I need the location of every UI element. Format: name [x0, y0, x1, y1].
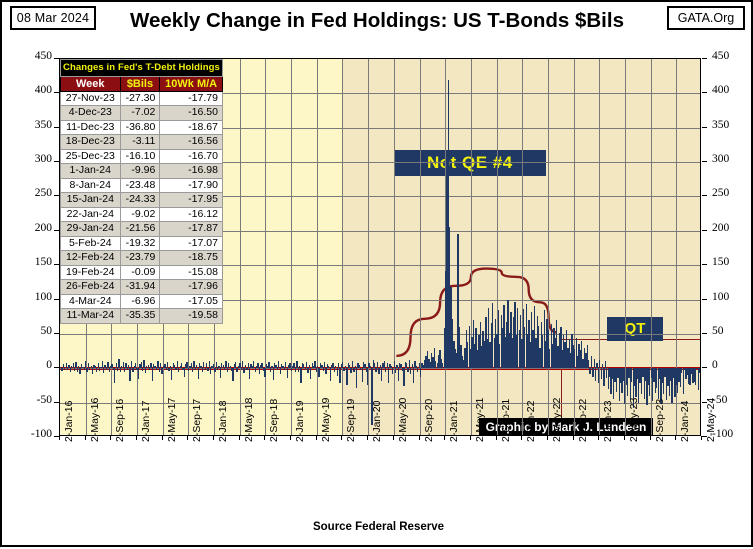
- x-axis-tick-label: 2-Sep-19: [345, 399, 357, 442]
- x-axis-tick-label: 2-May-20: [397, 398, 409, 442]
- cell-week: 27-Nov-23: [61, 91, 121, 106]
- bar: [314, 361, 315, 368]
- gridline-vertical: [548, 59, 549, 435]
- cell-week: 5-Feb-24: [61, 236, 121, 251]
- bar: [310, 368, 311, 379]
- bar: [192, 368, 193, 371]
- x-axis-tick: [496, 436, 497, 440]
- cell-ma: -17.79: [160, 91, 223, 106]
- x-axis-tick: [110, 436, 111, 440]
- bar: [375, 368, 376, 372]
- x-axis-tick-label: 2-May-19: [320, 398, 332, 442]
- y-axis-tick-right: [702, 367, 707, 368]
- bar: [388, 368, 389, 383]
- bar: [413, 368, 414, 382]
- bar: [184, 368, 185, 377]
- bar: [598, 368, 599, 383]
- y-axis-tick-left: [54, 333, 59, 334]
- bar: [385, 368, 386, 371]
- bar: [410, 368, 411, 373]
- x-axis-tick-label: 2-May-23: [628, 398, 640, 442]
- bar: [343, 368, 344, 371]
- bar: [85, 361, 86, 368]
- fed-holdings-table: Changes in Fed's T-Debt Holdings Week$Bi…: [60, 59, 223, 324]
- bar: [403, 368, 404, 386]
- cell-ma: -17.95: [160, 193, 223, 208]
- y-axis-tick-label-right: 0: [712, 359, 753, 371]
- y-axis-tick-label-left: 150: [2, 256, 52, 268]
- chart-frame: 08 Mar 2024 Weekly Change in Fed Holding…: [0, 0, 753, 547]
- bar: [109, 368, 110, 371]
- bar: [589, 368, 590, 373]
- bar: [106, 368, 107, 370]
- x-axis-tick: [393, 436, 394, 440]
- y-axis-tick-label-left: 100: [2, 291, 52, 303]
- y-axis-tick-left: [54, 92, 59, 93]
- y-axis-tick-label-left: 350: [2, 119, 52, 131]
- y-axis-tick-right: [702, 299, 707, 300]
- bar: [307, 368, 308, 373]
- gridline-horizontal: [60, 334, 700, 335]
- cell-bils: -23.79: [120, 251, 160, 266]
- cell-bils: -27.30: [120, 91, 160, 106]
- y-axis-tick-label-right: 200: [712, 222, 753, 234]
- bar: [142, 368, 143, 371]
- x-axis-tick: [573, 436, 574, 440]
- cell-bils: -19.32: [120, 236, 160, 251]
- x-axis-tick-label: 2-May-24: [705, 398, 717, 442]
- x-axis-tick: [239, 436, 240, 440]
- bar: [114, 368, 115, 383]
- x-axis-tick-label: 2-May-16: [89, 398, 101, 442]
- y-axis-tick-label-right: -50: [712, 394, 753, 406]
- x-axis-tick: [290, 436, 291, 440]
- bar: [99, 368, 100, 371]
- bar: [339, 368, 340, 383]
- x-axis-tick: [598, 436, 599, 440]
- y-axis-tick-left: [54, 195, 59, 196]
- y-axis-tick-label-left: 250: [2, 187, 52, 199]
- bar: [367, 368, 368, 384]
- table-row: 22-Jan-24-9.02-16.12: [61, 207, 223, 222]
- bar: [417, 368, 418, 372]
- bar: [159, 368, 160, 371]
- x-axis-tick-label: 2-May-17: [166, 398, 178, 442]
- gridline-vertical: [471, 59, 472, 435]
- bar: [334, 368, 335, 371]
- cell-bils: -9.96: [120, 164, 160, 179]
- bar: [601, 368, 602, 379]
- x-axis-tick-label: 2-Jan-24: [679, 401, 691, 442]
- bar: [61, 368, 62, 371]
- table-row: 15-Jan-24-24.33-17.95: [61, 193, 223, 208]
- y-axis-tick-label-right: 250: [712, 187, 753, 199]
- cell-ma: -16.98: [160, 164, 223, 179]
- bar: [168, 368, 169, 371]
- x-axis-tick: [701, 436, 702, 440]
- bar: [177, 361, 178, 369]
- bar: [280, 368, 281, 373]
- bar: [84, 368, 85, 370]
- bar: [246, 368, 247, 369]
- x-axis-tick: [547, 436, 548, 440]
- gridline-vertical: [342, 59, 343, 435]
- y-axis-tick-right: [702, 195, 707, 196]
- bar: [362, 368, 363, 382]
- y-axis-tick-label-right: 450: [712, 50, 753, 62]
- bar: [156, 368, 157, 370]
- gridline-vertical: [497, 59, 498, 435]
- x-axis-tick-label: 2-Jan-21: [448, 401, 460, 442]
- bar: [241, 368, 242, 370]
- bar: [592, 368, 593, 376]
- cell-week: 29-Jan-24: [61, 222, 121, 237]
- y-axis-tick-label-left: 400: [2, 84, 52, 96]
- gridline-vertical: [240, 59, 241, 435]
- y-axis-tick-left: [54, 58, 59, 59]
- bar: [588, 360, 589, 368]
- bar: [305, 368, 306, 370]
- bar: [603, 368, 604, 386]
- cell-ma: -19.58: [160, 309, 223, 324]
- bar: [316, 368, 317, 372]
- table-header-row: Week$Bils10Wk M/A: [61, 76, 223, 91]
- bar: [220, 368, 221, 378]
- bar: [178, 368, 179, 372]
- bar: [166, 368, 167, 369]
- table-row: 25-Dec-23-16.10-16.70: [61, 149, 223, 164]
- y-axis-tick-label-left: 450: [2, 50, 52, 62]
- bar: [384, 361, 385, 368]
- bar: [381, 368, 382, 380]
- x-axis-tick: [316, 436, 317, 440]
- x-axis-tick-label: 2-Jan-23: [602, 401, 614, 442]
- bar: [683, 368, 684, 393]
- y-axis-tick-right: [702, 161, 707, 162]
- x-axis-tick-label: 2-Jan-16: [63, 401, 75, 442]
- bar: [175, 368, 176, 370]
- table-body: 27-Nov-23-27.30-17.794-Dec-23-7.02-16.50…: [61, 91, 223, 323]
- table-row: 26-Feb-24-31.94-17.96: [61, 280, 223, 295]
- cell-bils: -7.02: [120, 106, 160, 121]
- bar: [103, 368, 104, 373]
- x-axis-tick: [444, 436, 445, 440]
- bar: [224, 368, 225, 369]
- x-axis-tick: [264, 436, 265, 440]
- x-axis-tick: [213, 436, 214, 440]
- cell-ma: -17.87: [160, 222, 223, 237]
- bar: [210, 368, 211, 373]
- cell-ma: -17.96: [160, 280, 223, 295]
- bar: [395, 368, 396, 373]
- bar: [242, 361, 243, 369]
- table-row: 5-Feb-24-19.32-17.07: [61, 236, 223, 251]
- y-axis-tick-right: [702, 333, 707, 334]
- bar: [67, 368, 68, 369]
- bar: [205, 368, 206, 369]
- bar: [209, 361, 210, 369]
- gridline-vertical: [317, 59, 318, 435]
- y-axis-tick-left: [54, 367, 59, 368]
- y-axis-tick-label-right: 400: [712, 84, 753, 96]
- table-row: 27-Nov-23-27.30-17.79: [61, 91, 223, 106]
- gridline-vertical: [574, 59, 575, 435]
- x-axis-tick-label: 2-Sep-22: [577, 399, 589, 442]
- x-axis-tick: [419, 436, 420, 440]
- bar: [591, 356, 592, 368]
- bar: [392, 368, 393, 374]
- bar: [171, 368, 172, 380]
- cell-bils: -35.35: [120, 309, 160, 324]
- x-axis-tick: [470, 436, 471, 440]
- bar: [131, 361, 132, 368]
- bar: [353, 368, 354, 372]
- y-axis-tick-label-right: 150: [712, 256, 753, 268]
- cell-week: 15-Jan-24: [61, 193, 121, 208]
- annotation-qt: QT: [607, 317, 663, 341]
- bar: [325, 368, 326, 373]
- bar: [259, 368, 260, 374]
- bar: [117, 368, 118, 371]
- bar: [118, 359, 119, 368]
- y-axis-tick-left: [54, 127, 59, 128]
- table-row: 1-Jan-24-9.96-16.98: [61, 164, 223, 179]
- annotation-not-qe: Not QE #4: [394, 150, 546, 176]
- y-axis-tick-label-left: 0: [2, 359, 52, 371]
- gridline-vertical: [394, 59, 395, 435]
- cell-bils: -9.02: [120, 207, 160, 222]
- bar: [323, 368, 324, 371]
- bar: [605, 361, 606, 368]
- table-row: 18-Dec-23-3.11-16.56: [61, 135, 223, 150]
- cell-bils: -24.33: [120, 193, 160, 208]
- cell-week: 12-Feb-24: [61, 251, 121, 266]
- table-row: 8-Jan-24-23.48-17.90: [61, 178, 223, 193]
- cell-ma: -17.05: [160, 294, 223, 309]
- y-axis-tick-label-left: -100: [2, 428, 52, 440]
- bar: [287, 368, 288, 378]
- x-axis-tick: [624, 436, 625, 440]
- cell-week: 4-Mar-24: [61, 294, 121, 309]
- cell-ma: -18.75: [160, 251, 223, 266]
- bar: [337, 368, 338, 376]
- bar: [695, 368, 696, 384]
- table-row: 19-Feb-24-0.09-15.08: [61, 265, 223, 280]
- x-axis-tick-label: 2-Sep-23: [654, 399, 666, 442]
- cell-week: 18-Dec-23: [61, 135, 121, 150]
- bar: [202, 368, 203, 372]
- bar: [298, 368, 299, 371]
- cell-bils: -23.48: [120, 178, 160, 193]
- bar: [264, 368, 265, 376]
- y-axis-tick-label-right: 350: [712, 119, 753, 131]
- source-label: Source Federal Reserve: [2, 521, 753, 533]
- x-axis-tick: [162, 436, 163, 440]
- x-axis-tick-label: 2-Sep-16: [114, 399, 126, 442]
- x-axis-tick-label: 2-Jan-17: [140, 401, 152, 442]
- bar: [92, 368, 93, 374]
- bar: [409, 360, 410, 368]
- cell-bils: -21.56: [120, 222, 160, 237]
- bar: [227, 368, 228, 372]
- x-axis-tick-label: 2-May-21: [474, 398, 486, 442]
- table-row: 4-Dec-23-7.02-16.50: [61, 106, 223, 121]
- bar: [79, 368, 80, 373]
- bar: [225, 361, 226, 368]
- y-axis-tick-label-left: 200: [2, 222, 52, 234]
- y-axis-tick-right: [702, 230, 707, 231]
- bar: [291, 368, 292, 371]
- y-axis-tick-label-left: 50: [2, 325, 52, 337]
- x-axis-tick-label: 2-Sep-17: [191, 399, 203, 442]
- bar: [161, 368, 162, 374]
- y-axis-tick-right: [702, 58, 707, 59]
- bar: [188, 368, 189, 371]
- cell-week: 26-Feb-24: [61, 280, 121, 295]
- bar: [198, 368, 199, 379]
- bar: [217, 368, 218, 370]
- table-row: 12-Feb-24-23.79-18.75: [61, 251, 223, 266]
- cell-ma: -18.67: [160, 120, 223, 135]
- bar: [284, 368, 285, 369]
- bar: [350, 368, 351, 373]
- cell-ma: -16.56: [160, 135, 223, 150]
- cell-bils: -31.94: [120, 280, 160, 295]
- bar: [318, 368, 319, 377]
- bar: [398, 368, 399, 381]
- y-axis-tick-label-right: 50: [712, 325, 753, 337]
- bar: [193, 361, 194, 368]
- x-axis-tick: [85, 436, 86, 440]
- bar: [120, 368, 121, 372]
- bar: [132, 368, 133, 372]
- cell-ma: -15.08: [160, 265, 223, 280]
- x-axis-tick: [341, 436, 342, 440]
- bar: [70, 368, 71, 372]
- x-axis-tick-label: 2-May-18: [243, 398, 255, 442]
- y-axis-tick-right: [702, 92, 707, 93]
- table-row: 29-Jan-24-21.56-17.87: [61, 222, 223, 237]
- cell-week: 19-Feb-24: [61, 265, 121, 280]
- x-axis-tick-label: 2-Jan-22: [525, 401, 537, 442]
- y-axis-tick-right: [702, 264, 707, 265]
- bar: [102, 361, 103, 369]
- bar: [149, 368, 150, 369]
- gridline-vertical: [522, 59, 523, 435]
- cell-week: 8-Jan-24: [61, 178, 121, 193]
- bar: [127, 368, 128, 370]
- x-axis-tick-label: 2-Jan-18: [217, 401, 229, 442]
- bar: [594, 359, 595, 369]
- y-axis-tick-left: [54, 402, 59, 403]
- bar: [407, 368, 408, 371]
- cell-bils: -16.10: [120, 149, 160, 164]
- cell-week: 22-Jan-24: [61, 207, 121, 222]
- bar: [277, 368, 278, 370]
- cell-week: 1-Jan-24: [61, 164, 121, 179]
- y-axis-tick-right: [702, 127, 707, 128]
- table-row: 11-Dec-23-36.80-18.67: [61, 120, 223, 135]
- cell-ma: -17.90: [160, 178, 223, 193]
- bar: [195, 368, 196, 370]
- bar: [96, 368, 97, 372]
- bar: [124, 368, 125, 371]
- bar: [255, 368, 256, 371]
- table-col-header: $Bils: [120, 76, 160, 91]
- bar: [270, 368, 271, 372]
- bar: [273, 368, 274, 380]
- y-axis-tick-left: [54, 161, 59, 162]
- bar: [138, 368, 139, 378]
- bar: [295, 368, 296, 372]
- x-axis-tick: [59, 436, 60, 440]
- bar: [129, 368, 130, 380]
- bar: [74, 368, 75, 371]
- table-row: 11-Mar-24-35.35-19.58: [61, 309, 223, 324]
- bar: [599, 360, 600, 368]
- y-axis-tick-label-right: 100: [712, 291, 753, 303]
- y-axis-tick-label-left: -50: [2, 394, 52, 406]
- gridline-vertical: [265, 59, 266, 435]
- bar: [152, 368, 153, 381]
- y-axis-tick-left: [54, 299, 59, 300]
- y-axis-tick-label-right: -100: [712, 428, 753, 440]
- x-axis-tick: [136, 436, 137, 440]
- x-axis-tick-label: 2-Jan-19: [294, 401, 306, 442]
- table-row: 4-Mar-24-6.96-17.05: [61, 294, 223, 309]
- bar: [420, 368, 421, 377]
- cell-week: 11-Mar-24: [61, 309, 121, 324]
- x-axis-tick-label: 2-Sep-21: [500, 399, 512, 442]
- bar: [86, 368, 87, 371]
- bar: [64, 368, 65, 370]
- bar: [143, 360, 144, 368]
- cell-ma: -16.70: [160, 149, 223, 164]
- x-axis-tick: [650, 436, 651, 440]
- bar: [236, 368, 237, 371]
- bar: [296, 361, 297, 369]
- y-axis-tick-left: [54, 230, 59, 231]
- bar: [352, 361, 353, 368]
- bar: [253, 361, 254, 368]
- cell-bils: -6.96: [120, 294, 160, 309]
- x-axis-tick: [187, 436, 188, 440]
- bar: [595, 368, 596, 380]
- cell-bils: -3.11: [120, 135, 160, 150]
- y-axis-tick-label-right: 300: [712, 153, 753, 165]
- bar: [249, 368, 250, 378]
- y-axis-tick-left: [54, 264, 59, 265]
- x-axis-tick-label: 2-Sep-20: [423, 399, 435, 442]
- table-title: Changes in Fed's T-Debt Holdings: [61, 60, 223, 77]
- cell-bils: -36.80: [120, 120, 160, 135]
- x-axis-tick: [521, 436, 522, 440]
- bar: [232, 368, 233, 381]
- table-col-header: 10Wk M/A: [160, 76, 223, 91]
- x-axis-tick-label: 2-Jan-20: [371, 401, 383, 442]
- bar: [214, 368, 215, 371]
- x-axis-tick-label: 2-May-22: [551, 398, 563, 442]
- cell-week: 25-Dec-23: [61, 149, 121, 164]
- x-axis-tick: [367, 436, 368, 440]
- cell-ma: -16.12: [160, 207, 223, 222]
- bar: [394, 361, 395, 369]
- x-axis-tick-label: 2-Sep-18: [268, 399, 280, 442]
- cell-bils: -0.09: [120, 265, 160, 280]
- cell-week: 11-Dec-23: [61, 120, 121, 135]
- bar: [145, 368, 146, 373]
- bar: [157, 361, 158, 368]
